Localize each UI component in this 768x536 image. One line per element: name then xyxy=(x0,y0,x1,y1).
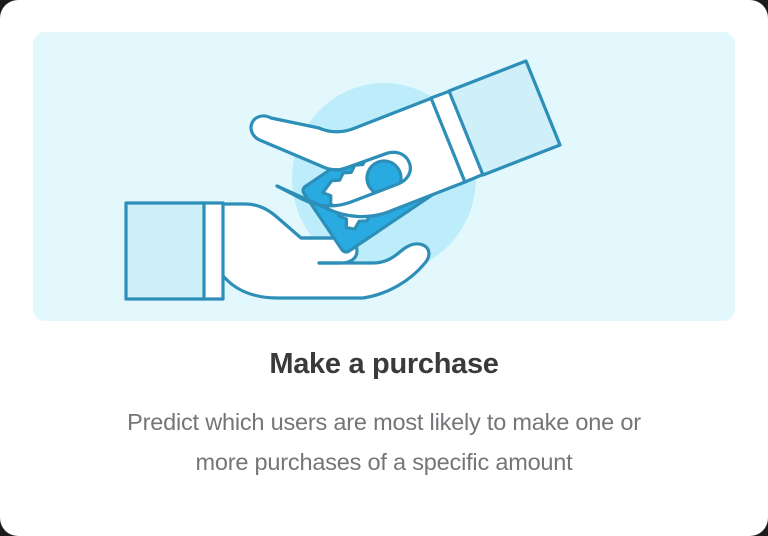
illustration-panel xyxy=(33,32,735,321)
description-line-2: more purchases of a specific amount xyxy=(195,449,572,475)
card-text-block: Make a purchase Predict which users are … xyxy=(0,344,768,482)
feature-card[interactable]: Make a purchase Predict which users are … xyxy=(0,0,768,536)
page-title: Make a purchase xyxy=(0,344,768,384)
hands-exchanging-money-icon xyxy=(33,32,735,321)
card-description: Predict which users are most likely to m… xyxy=(54,402,714,482)
description-line-1: Predict which users are most likely to m… xyxy=(127,409,641,435)
